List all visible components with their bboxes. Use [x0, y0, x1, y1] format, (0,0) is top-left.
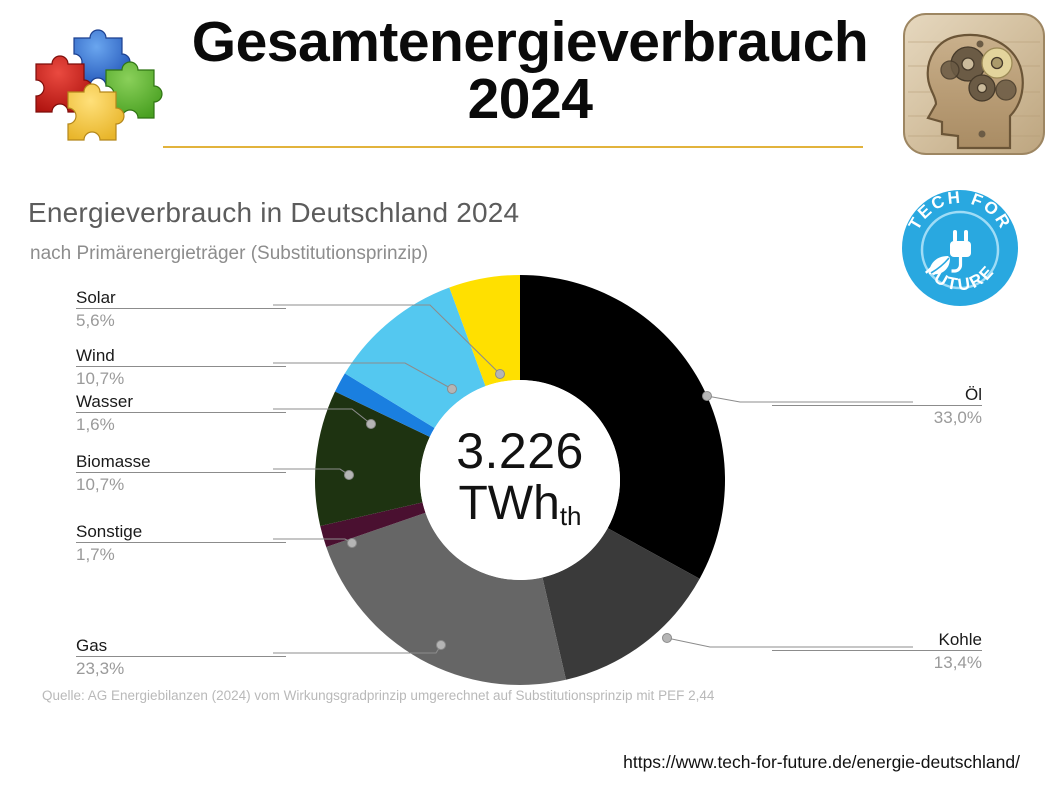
callout-oel: Öl 33,0% — [772, 385, 982, 428]
callout-kohle: Kohle 13,4% — [772, 630, 982, 673]
page-title: Gesamtenergieverbrauch 2024 — [165, 14, 895, 128]
callout-biomasse: Biomasse 10,7% — [76, 452, 286, 495]
page-title-line1: Gesamtenergieverbrauch — [165, 14, 895, 71]
slide-header: Gesamtenergieverbrauch 2024 — [0, 0, 1058, 160]
callout-oel-value: 33,0% — [772, 405, 982, 428]
callout-biomasse-label: Biomasse — [76, 452, 286, 472]
chart-title: Energieverbrauch in Deutschland 2024 — [28, 197, 519, 229]
puzzle-pieces-icon — [14, 22, 164, 157]
callout-solar: Solar 5,6% — [76, 288, 286, 331]
callout-sonstige: Sonstige 1,7% — [76, 522, 286, 565]
callout-solar-label: Solar — [76, 288, 286, 308]
callout-oel-label: Öl — [772, 385, 982, 405]
chart-source-note: Quelle: AG Energiebilanzen (2024) vom Wi… — [42, 688, 714, 703]
callout-sonstige-label: Sonstige — [76, 522, 286, 542]
callout-kohle-value: 13,4% — [772, 650, 982, 673]
callout-gas-value: 23,3% — [76, 656, 286, 679]
donut-chart — [310, 270, 730, 690]
callout-wind: Wind 10,7% — [76, 346, 286, 389]
head-with-gears-icon — [898, 8, 1050, 160]
callout-biomasse-value: 10,7% — [76, 472, 286, 495]
callout-gas-label: Gas — [76, 636, 286, 656]
callout-gas: Gas 23,3% — [76, 636, 286, 679]
callout-wasser: Wasser 1,6% — [76, 392, 286, 435]
callout-wind-value: 10,7% — [76, 366, 286, 389]
tech-for-future-logo: TECH FOR FUTURE — [898, 186, 1022, 310]
callout-sonstige-value: 1,7% — [76, 542, 286, 565]
callout-wasser-value: 1,6% — [76, 412, 286, 435]
callout-solar-value: 5,6% — [76, 308, 286, 331]
title-divider — [163, 146, 863, 148]
donut-hole — [420, 380, 620, 580]
footer-url: https://www.tech-for-future.de/energie-d… — [0, 752, 1020, 773]
callout-wasser-label: Wasser — [76, 392, 286, 412]
page-title-line2: 2024 — [165, 71, 895, 128]
chart-subtitle: nach Primärenergieträger (Substitutionsp… — [30, 243, 428, 265]
chart-panel: Energieverbrauch in Deutschland 2024 nac… — [0, 170, 1058, 730]
callout-wind-label: Wind — [76, 346, 286, 366]
callout-kohle-label: Kohle — [772, 630, 982, 650]
